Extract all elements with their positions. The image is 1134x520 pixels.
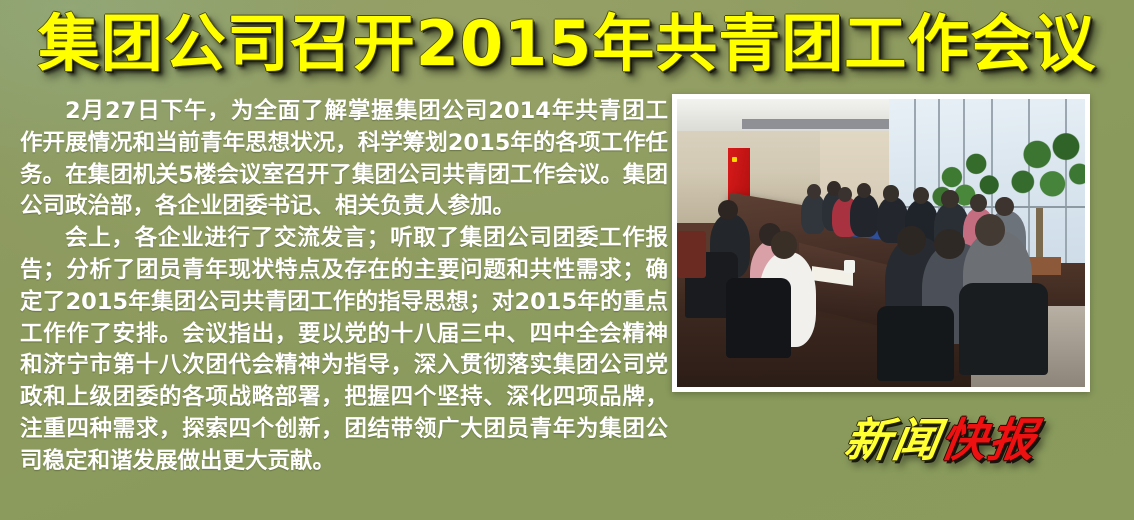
- photo-attendee-head: [913, 187, 929, 204]
- article-paragraph-1: 2月27日下午，为全面了解掌握集团公司2014年共青团工作开展情况和当前青年思想…: [20, 96, 668, 223]
- photo-attendee-head: [771, 231, 798, 258]
- photo-attendee-head: [883, 185, 899, 201]
- photo-attendee-head: [838, 187, 852, 202]
- photo-plant-trunk: [1036, 208, 1043, 260]
- news-flash-badge: 新闻快报: [841, 414, 1041, 466]
- photo-chair: [677, 231, 706, 277]
- photo-attendee: [850, 194, 879, 237]
- meeting-room-photo: [677, 99, 1085, 387]
- article-paragraph-2: 会上，各企业进行了交流发言；听取了集团公司团委工作报告；分析了团员青年现状特点及…: [20, 223, 668, 477]
- photo-attendee-head: [897, 226, 926, 255]
- photo-attendee-head: [975, 214, 1006, 246]
- photo-attendee-head: [941, 190, 958, 208]
- news-flash-label-yellow: 新闻: [841, 413, 946, 467]
- photo-attendee-head: [934, 229, 965, 259]
- photo-cup: [844, 260, 855, 273]
- photo-ceiling-strip: [742, 119, 897, 129]
- photo-attendee-head: [718, 200, 738, 220]
- photo-chair: [877, 306, 955, 381]
- page-title: 集团公司召开2015年共青团工作会议: [0, 12, 1134, 76]
- photo-chair: [959, 283, 1049, 375]
- photo-frame: [672, 94, 1090, 392]
- photo-attendee-head: [807, 184, 821, 199]
- photo-chair: [726, 278, 791, 359]
- photo-flag-star: [732, 157, 737, 162]
- news-flash-label-red: 快报: [937, 413, 1042, 467]
- article-body: 2月27日下午，为全面了解掌握集团公司2014年共青团工作开展情况和当前青年思想…: [20, 96, 668, 478]
- photo-attendee-head: [857, 183, 872, 199]
- photo-plant-right: [1003, 125, 1085, 223]
